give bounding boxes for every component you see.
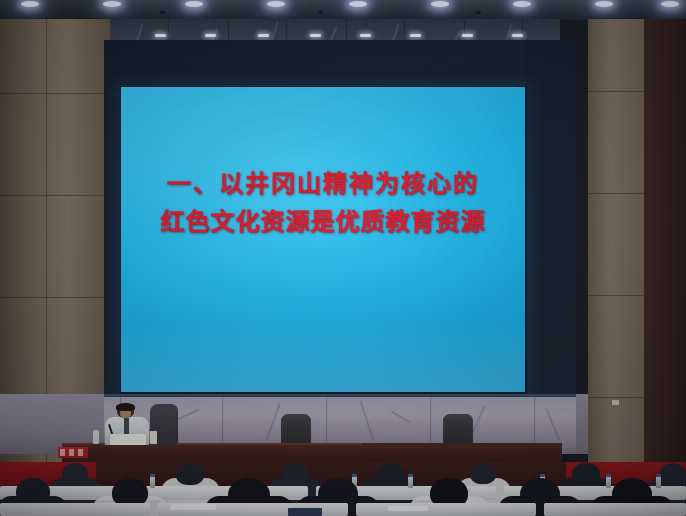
wall-downlight-7 bbox=[462, 34, 473, 37]
ceiling-vent-3 bbox=[476, 11, 481, 14]
wall-downlight-8 bbox=[512, 34, 523, 37]
audience-back-head-2 bbox=[176, 463, 204, 485]
speaker-hair bbox=[116, 403, 135, 411]
screen-recess-right bbox=[525, 40, 576, 395]
handout-paper-1 bbox=[170, 504, 216, 510]
audience-front-head-1 bbox=[16, 478, 50, 505]
projection-screen[interactable]: 一、以井冈山精神为核心的 红色文化资源是优质教育资源 bbox=[121, 87, 525, 392]
desk-cup bbox=[150, 431, 157, 444]
water-bottle-6 bbox=[656, 476, 661, 488]
handout-paper-2 bbox=[388, 506, 428, 511]
audience-back-head-4 bbox=[376, 463, 404, 485]
photo-scene: 一、以井冈山精神为核心的 红色文化资源是优质教育资源 bbox=[0, 0, 686, 516]
wall-downlight-6 bbox=[410, 34, 421, 37]
water-bottle-cap-2 bbox=[352, 474, 357, 477]
audience-table-front-1 bbox=[0, 503, 150, 516]
wall-downlight-4 bbox=[310, 34, 321, 37]
audience-back-head-5 bbox=[470, 463, 496, 484]
water-bottle-cap-5 bbox=[606, 474, 611, 477]
ceiling-spotlight-9 bbox=[661, 1, 679, 7]
audience-back-head-6 bbox=[572, 463, 600, 485]
screen-bottom-glow bbox=[121, 322, 525, 392]
wall-downlight-3 bbox=[258, 34, 269, 37]
laptop-screen[interactable] bbox=[288, 508, 322, 516]
wall-downlight-2 bbox=[205, 34, 216, 37]
slide-heading-line-1: 一、以井冈山精神为核心的 bbox=[121, 165, 525, 203]
audience-table-front-3 bbox=[356, 503, 536, 516]
water-bottle-cap-1 bbox=[150, 474, 155, 477]
ceiling-spotlight-7 bbox=[513, 1, 531, 7]
far-right-dark-wall bbox=[644, 19, 686, 474]
ceiling-spotlight-2 bbox=[103, 1, 121, 7]
desk-bottle-stage bbox=[93, 430, 99, 444]
water-bottle-cap-4 bbox=[540, 474, 545, 477]
desk-papers bbox=[110, 434, 146, 445]
water-bottle-cap-3 bbox=[408, 474, 413, 477]
water-bottle-cap-6 bbox=[656, 474, 661, 477]
audience-table-front-4 bbox=[544, 503, 686, 516]
lower-wall-right bbox=[576, 394, 588, 454]
audience-back-head-7 bbox=[660, 463, 686, 484]
water-bottle-1 bbox=[150, 476, 155, 488]
ceiling-spotlight-4 bbox=[267, 1, 285, 7]
water-bottle-5 bbox=[606, 476, 611, 488]
wall-downlight-5 bbox=[360, 34, 371, 37]
audience-back-head-3 bbox=[282, 463, 308, 484]
water-bottle-3 bbox=[408, 476, 413, 488]
ceiling-spotlight-8 bbox=[595, 1, 613, 7]
right-wall-column bbox=[588, 19, 644, 474]
ceiling-vent-1 bbox=[160, 11, 165, 14]
ceiling-shadow bbox=[0, 0, 120, 20]
ceiling-spotlight-5 bbox=[349, 1, 367, 7]
ceiling-spotlight-6 bbox=[431, 1, 449, 7]
wall-switch-right[interactable] bbox=[612, 400, 619, 405]
ceiling-vent-2 bbox=[318, 11, 323, 14]
ceiling-spotlight-3 bbox=[185, 1, 203, 7]
wall-downlight-1 bbox=[155, 34, 166, 37]
slide-text-block: 一、以井冈山精神为核心的 红色文化资源是优质教育资源 bbox=[121, 165, 525, 241]
audience-back-head-1 bbox=[62, 463, 88, 484]
slide-heading-line-2: 红色文化资源是优质教育资源 bbox=[121, 203, 525, 241]
podium-nameplate-text bbox=[60, 449, 86, 456]
speaker-tie bbox=[124, 418, 129, 435]
ceiling-spotlight-1 bbox=[21, 1, 39, 7]
